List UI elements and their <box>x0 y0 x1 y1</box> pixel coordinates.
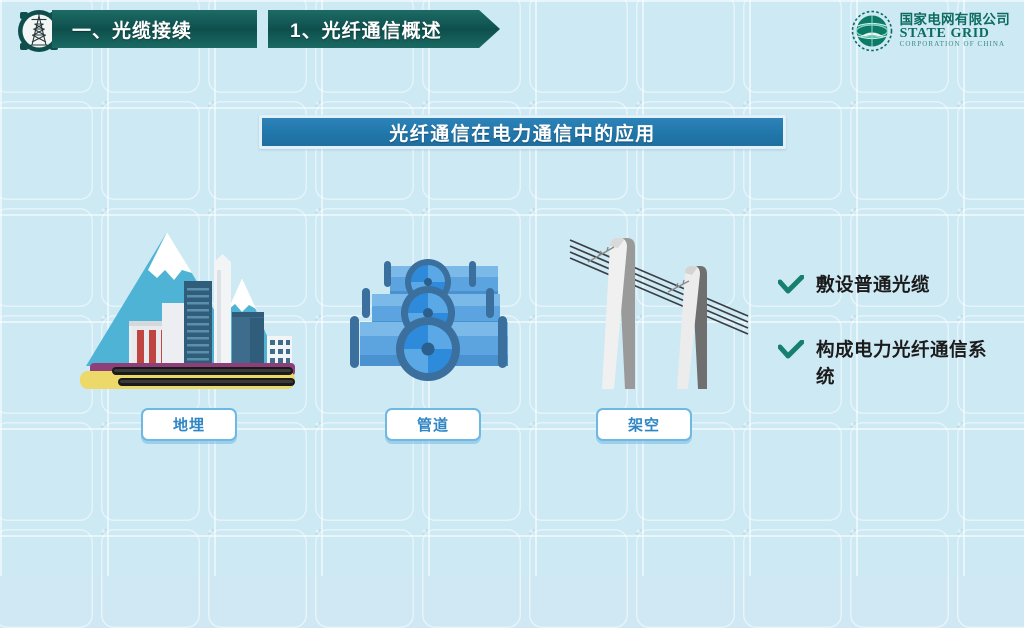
background-tile <box>850 422 949 521</box>
background-tile <box>636 529 735 628</box>
bullet-item-1: 敷设普通光缆 <box>778 272 1018 299</box>
state-grid-logo: 国家电网有限公司 STATE GRID CORPORATION OF CHINA <box>851 4 1010 58</box>
label-pipeline: 管道 <box>417 414 449 435</box>
page-title: 光纤通信在电力通信中的应用 <box>262 118 783 146</box>
breadcrumb-item-2[interactable]: 1、光纤通信概述 <box>268 10 500 48</box>
bullet-item-1-text: 敷设普通光缆 <box>816 272 930 299</box>
breadcrumb-item-1[interactable]: 一、光缆接续 <box>52 10 257 48</box>
background-tile <box>529 0 628 93</box>
label-box-underground: 地埋 <box>141 408 237 441</box>
background-tile <box>0 422 93 521</box>
label-overhead: 架空 <box>628 414 660 435</box>
logo-company-cn: 国家电网有限公司 <box>900 13 1010 27</box>
background-tile <box>743 422 842 521</box>
background-tile <box>0 101 93 200</box>
label-underground: 地埋 <box>173 414 205 435</box>
background-tile <box>208 529 307 628</box>
overhead-line-illustration <box>552 226 752 404</box>
label-box-pipeline: 管道 <box>385 408 481 441</box>
background-tile <box>0 529 93 628</box>
background-tile <box>422 529 521 628</box>
slide-title-banner: 光纤通信在电力通信中的应用 <box>259 115 786 149</box>
background-tile <box>529 529 628 628</box>
check-icon <box>778 340 804 360</box>
background-tile <box>743 0 842 93</box>
state-grid-globe-icon <box>851 10 893 52</box>
background-tile <box>850 529 949 628</box>
logo-company-sub: CORPORATION OF CHINA <box>900 41 1010 48</box>
header-breadcrumb-bar: 一、光缆接续 1、光纤通信概述 <box>0 10 520 54</box>
background-tile <box>636 0 735 93</box>
background-tile <box>743 529 842 628</box>
background-tile <box>957 529 1024 628</box>
underground-buried-illustration <box>62 226 312 398</box>
background-tile <box>850 101 949 200</box>
breadcrumb-item-2-label: 1、光纤通信概述 <box>290 16 442 43</box>
background-tile <box>101 101 200 200</box>
bullet-list: 敷设普通光缆 构成电力光纤通信系统 <box>778 272 1018 428</box>
bullet-item-2-text: 构成电力光纤通信系统 <box>816 337 996 391</box>
label-box-overhead: 架空 <box>596 408 692 441</box>
background-tile <box>101 529 200 628</box>
logo-company-en: STATE GRID <box>900 27 1010 41</box>
background-tile <box>957 422 1024 521</box>
check-icon <box>778 275 804 295</box>
pipeline-duct-illustration <box>344 258 524 390</box>
bullet-item-2: 构成电力光纤通信系统 <box>778 337 1018 391</box>
background-tile <box>315 529 414 628</box>
background-tile <box>957 101 1024 200</box>
breadcrumb-item-1-label: 一、光缆接续 <box>72 16 192 43</box>
